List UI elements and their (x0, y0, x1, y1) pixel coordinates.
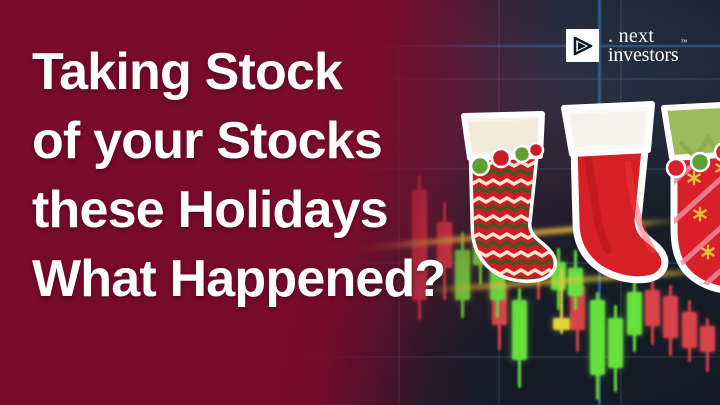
brand-logo[interactable]: . next investors ™ (566, 27, 678, 64)
pompom-red (529, 143, 543, 157)
pompom-red (667, 159, 685, 177)
thumbnail-canvas: Taking Stock of your Stocks these Holida… (0, 0, 720, 405)
headline-line-4: What Happened? (32, 245, 502, 314)
brand-line-1: . next (608, 27, 678, 46)
trademark-mark: ™ (681, 39, 688, 46)
headline-line-3: these Holidays (32, 176, 502, 245)
brand-line-2: investors (608, 46, 678, 65)
headline-line-1: Taking Stock (32, 38, 502, 107)
brand-wordmark: . next investors ™ (608, 27, 678, 64)
play-triangle-icon (566, 29, 599, 62)
headline-line-2: of your Stocks (32, 107, 502, 176)
pompom-green (691, 153, 709, 171)
headline-block: Taking Stock of your Stocks these Holida… (32, 38, 502, 314)
snowflake-stocking (650, 102, 720, 292)
pompom-green (514, 146, 530, 162)
